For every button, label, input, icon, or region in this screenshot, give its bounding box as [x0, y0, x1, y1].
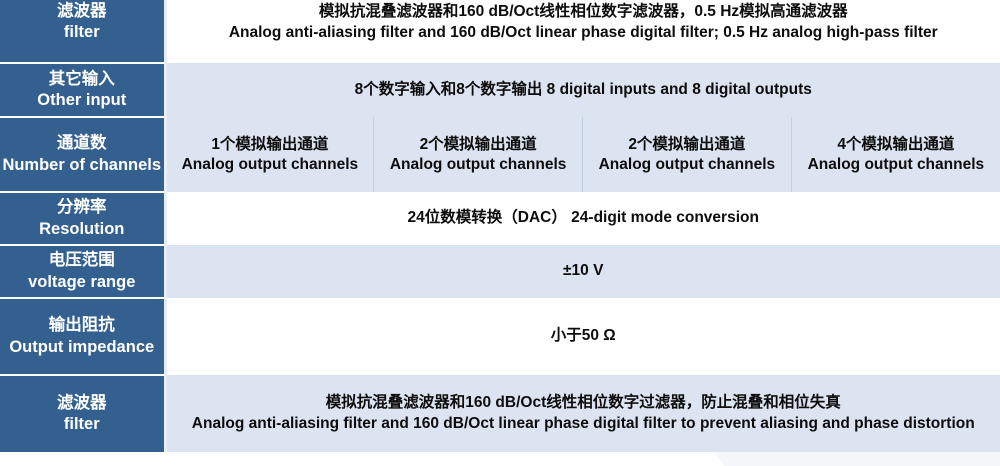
row-header-label-en: Output impedance: [0, 337, 164, 358]
channel-label-en: Analog output channels: [792, 155, 1000, 175]
channel-label-en: Analog output channels: [583, 155, 791, 175]
row-value-output-impedance: 小于50 Ω: [165, 298, 1000, 375]
table-row: 电压范围 voltage range ±10 V: [0, 245, 1000, 298]
channel-label-cn: 2个模拟输出通道: [374, 135, 582, 155]
row-value-text: 24位数模转换（DAC） 24-digit mode conversion: [408, 209, 759, 226]
row-header-label-cn: 滤波器: [0, 1, 164, 22]
channel-cell-4: 4个模拟输出通道 Analog output channels: [791, 117, 1000, 192]
row-header-label-en: Resolution: [0, 219, 164, 240]
specification-table: 滤波器 filter 模拟抗混叠滤波器和160 dB/Oct线性相位数字滤波器，…: [0, 0, 1000, 452]
table-row: 滤波器 filter 模拟抗混叠滤波器和160 dB/Oct线性相位数字过滤器，…: [0, 375, 1000, 452]
row-header-label-en: filter: [0, 414, 164, 435]
row-header-voltage-range: 电压范围 voltage range: [0, 245, 165, 298]
row-header-label-cn: 通道数: [0, 133, 164, 154]
row-header-label-en: Number of channels: [0, 155, 164, 176]
row-value-cn: 模拟抗混叠滤波器和160 dB/Oct线性相位数字滤波器，0.5 Hz模拟高通滤…: [167, 2, 1000, 22]
row-header-number-of-channels: 通道数 Number of channels: [0, 117, 165, 192]
spec-table-page: 滤波器 filter 模拟抗混叠滤波器和160 dB/Oct线性相位数字滤波器，…: [0, 0, 1000, 466]
channel-label-en: Analog output channels: [167, 155, 374, 175]
channel-cell-1: 1个模拟输出通道 Analog output channels: [165, 117, 374, 192]
row-value-voltage-range: ±10 V: [165, 245, 1000, 298]
row-header-other-input: 其它输入 Other input: [0, 63, 165, 117]
row-header-label-cn: 分辨率: [0, 197, 164, 218]
row-value-text: ±10 V: [563, 262, 603, 279]
row-value-en: Analog anti-aliasing filter and 160 dB/O…: [167, 414, 1000, 434]
channel-cell-2: 2个模拟输出通道 Analog output channels: [374, 117, 583, 192]
row-header-filter-top: 滤波器 filter: [0, 0, 165, 63]
row-header-label-cn: 滤波器: [0, 393, 164, 414]
channel-label-cn: 1个模拟输出通道: [167, 135, 374, 155]
table-row: 分辨率 Resolution 24位数模转换（DAC） 24-digit mod…: [0, 192, 1000, 245]
row-value-filter-top: 模拟抗混叠滤波器和160 dB/Oct线性相位数字滤波器，0.5 Hz模拟高通滤…: [165, 0, 1000, 63]
row-header-label-cn: 其它输入: [0, 69, 164, 90]
row-header-resolution: 分辨率 Resolution: [0, 192, 165, 245]
channel-label-en: Analog output channels: [374, 155, 582, 175]
table-row: 滤波器 filter 模拟抗混叠滤波器和160 dB/Oct线性相位数字滤波器，…: [0, 0, 1000, 63]
row-value-cn: 模拟抗混叠滤波器和160 dB/Oct线性相位数字过滤器，防止混叠和相位失真: [167, 393, 1000, 413]
row-value-resolution: 24位数模转换（DAC） 24-digit mode conversion: [165, 192, 1000, 245]
table-row: 其它输入 Other input 8个数字输入和8个数字输出 8 digital…: [0, 63, 1000, 117]
row-value-en: Analog anti-aliasing filter and 160 dB/O…: [167, 23, 1000, 43]
row-header-label-en: Other input: [0, 90, 164, 111]
row-value-filter-bottom: 模拟抗混叠滤波器和160 dB/Oct线性相位数字过滤器，防止混叠和相位失真 A…: [165, 375, 1000, 452]
table-row: 输出阻抗 Output impedance 小于50 Ω: [0, 298, 1000, 375]
channel-label-cn: 4个模拟输出通道: [792, 135, 1000, 155]
row-header-label-cn: 输出阻抗: [0, 315, 164, 336]
row-header-filter-bottom: 滤波器 filter: [0, 375, 165, 452]
row-header-label-en: filter: [0, 22, 164, 43]
channel-label-cn: 2个模拟输出通道: [583, 135, 791, 155]
table-row: 通道数 Number of channels 1个模拟输出通道 Analog o…: [0, 117, 1000, 192]
row-value-text: 8个数字输入和8个数字输出 8 digital inputs and 8 dig…: [355, 81, 812, 98]
channel-cell-3: 2个模拟输出通道 Analog output channels: [583, 117, 792, 192]
row-header-output-impedance: 输出阻抗 Output impedance: [0, 298, 165, 375]
row-header-label-en: voltage range: [0, 272, 164, 293]
row-value-other-input: 8个数字输入和8个数字输出 8 digital inputs and 8 dig…: [165, 63, 1000, 117]
row-header-label-cn: 电压范围: [0, 250, 164, 271]
row-value-text: 小于50 Ω: [551, 327, 616, 344]
